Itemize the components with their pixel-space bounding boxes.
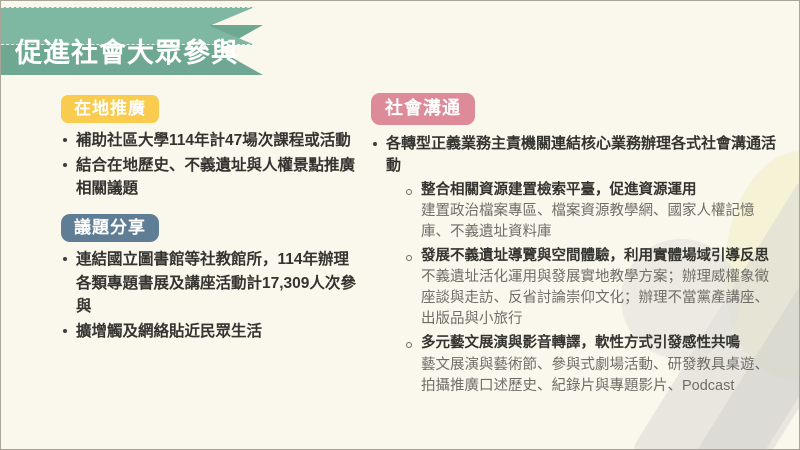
sub-item-body: 藝文展演與藝術節、參與式劇場活動、研發教具桌遊、拍攝推廣口述歷史、紀錄片與專題影… xyxy=(421,355,781,397)
section-badge-social-communication: 社會溝通 xyxy=(371,93,475,125)
list-item: 各轉型正義業務主責機關連結核心業務辦理各式社會溝通活動 整合相關資源建置檢索平臺… xyxy=(371,133,781,397)
sub-item-body: 建置政治檔案專區、檔案資源教學網、國家人權記憶庫、不義遺址資料庫 xyxy=(421,201,781,243)
list-item: 發展不義遺址導覽與空間體驗，利用實體場域引導反思 不義遺址活化運用與發展實地教學… xyxy=(404,246,781,330)
section-topic-sharing: 議題分享 連結國立圖書館等社教館所，114年辦理各類專題書展及講座活動計17,3… xyxy=(61,214,361,343)
page-title: 促進社會大眾參與 xyxy=(15,25,239,75)
section-badge-local-promotion: 在地推廣 xyxy=(61,95,159,123)
sub-item-heading: 多元藝文展演與影音轉譯，軟性方式引發感性共鳴 xyxy=(421,333,781,354)
list-item: 補助社區大學114年計47場次課程或活動 xyxy=(61,129,361,153)
list-item: 連結國立圖書館等社教館所，114年辦理各類專題書展及講座活動計17,309人次參… xyxy=(61,248,361,319)
sub-item-heading: 發展不義遺址導覽與空間體驗，利用實體場域引導反思 xyxy=(421,246,781,267)
bullet-list-social-communication: 各轉型正義業務主責機關連結核心業務辦理各式社會溝通活動 整合相關資源建置檢索平臺… xyxy=(371,133,781,397)
bullet-list-topic-sharing: 連結國立圖書館等社教館所，114年辦理各類專題書展及講座活動計17,309人次參… xyxy=(61,248,361,343)
bullet-list-local-promotion: 補助社區大學114年計47場次課程或活動 結合在地歷史、不義遺址與人權景點推廣相… xyxy=(61,129,361,201)
list-item: 整合相關資源建置檢索平臺，促進資源運用 建置政治檔案專區、檔案資源教學網、國家人… xyxy=(404,180,781,243)
sub-item-heading: 整合相關資源建置檢索平臺，促進資源運用 xyxy=(421,180,781,201)
right-column: 社會溝通 各轉型正義業務主責機關連結核心業務辦理各式社會溝通活動 整合相關資源建… xyxy=(371,93,781,400)
bullet-text: 各轉型正義業務主責機關連結核心業務辦理各式社會溝通活動 xyxy=(386,135,776,175)
bullet-text: 補助社區大學114年計47場次課程或活動 xyxy=(76,132,351,149)
list-item: 結合在地歷史、不義遺址與人權景點推廣相關議題 xyxy=(61,154,361,201)
bullet-text: 連結國立圖書館等社教館所，114年辦理各類專題書展及講座活動計17,309人次參… xyxy=(76,251,356,315)
section-badge-topic-sharing: 議題分享 xyxy=(61,214,159,242)
left-column: 在地推廣 補助社區大學114年計47場次課程或活動 結合在地歷史、不義遺址與人權… xyxy=(61,95,361,344)
sub-item-body: 不義遺址活化運用與發展實地教學方案；辦理威權象徵座談與走訪、反省討論崇仰文化；辦… xyxy=(421,267,781,330)
sub-bullet-list: 整合相關資源建置檢索平臺，促進資源運用 建置政治檔案專區、檔案資源教學網、國家人… xyxy=(386,180,781,397)
section-local-promotion: 在地推廣 補助社區大學114年計47場次課程或活動 結合在地歷史、不義遺址與人權… xyxy=(61,95,361,201)
bullet-text: 擴增觸及網絡貼近民眾生活 xyxy=(76,323,262,340)
list-item: 多元藝文展演與影音轉譯，軟性方式引發感性共鳴 藝文展演與藝術節、參與式劇場活動、… xyxy=(404,333,781,396)
slide-canvas: 促進社會大眾參與 在地推廣 補助社區大學114年計47場次課程或活動 結合在地歷… xyxy=(0,0,800,450)
bullet-text: 結合在地歷史、不義遺址與人權景點推廣相關議題 xyxy=(76,157,355,198)
list-item: 擴增觸及網絡貼近民眾生活 xyxy=(61,320,361,344)
